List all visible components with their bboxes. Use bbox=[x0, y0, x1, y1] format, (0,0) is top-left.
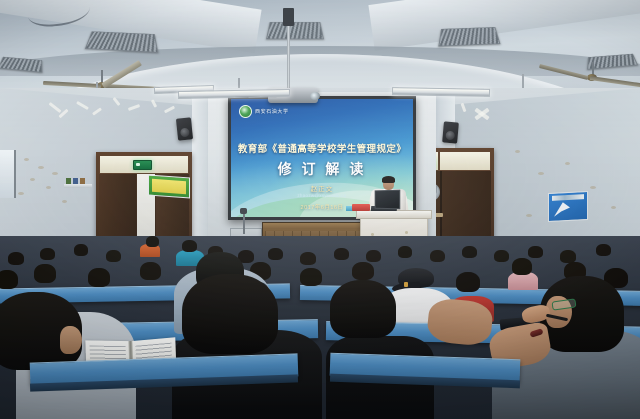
exit-sign-icon bbox=[133, 160, 152, 170]
poster-graphic bbox=[554, 202, 570, 217]
speaker-cone bbox=[445, 131, 455, 141]
wall-speaker-left bbox=[176, 117, 193, 140]
air-vent-icon bbox=[438, 27, 500, 47]
fluorescent-light bbox=[392, 87, 490, 97]
audience-head-foreground bbox=[182, 274, 278, 354]
slide-title-primary: 教育部《普通高等学校学生管理规定》 bbox=[231, 141, 413, 155]
shelf-item bbox=[66, 178, 71, 184]
microphone-icon bbox=[240, 208, 247, 214]
wall-scuff bbox=[611, 206, 616, 209]
microphone-stand bbox=[243, 212, 245, 234]
audience-head bbox=[34, 264, 56, 283]
podium-surface bbox=[356, 210, 432, 219]
lecture-hall-photo: 西安石油大学 教育部《普通高等学校学生管理规定》 修 订 解 读 赵正文 zha… bbox=[0, 0, 640, 419]
wall-scuff bbox=[538, 172, 544, 175]
university-seal-icon bbox=[239, 105, 252, 118]
wall-scuff bbox=[52, 172, 58, 175]
shelf-item bbox=[73, 178, 78, 184]
wall-shelf bbox=[64, 184, 92, 188]
audience-head bbox=[0, 270, 18, 289]
wall-scuff bbox=[565, 162, 570, 165]
presenter-hair bbox=[382, 176, 395, 183]
audience-head bbox=[352, 262, 374, 280]
poster-right bbox=[548, 191, 588, 222]
audience-head bbox=[88, 268, 110, 287]
wall-scuff bbox=[515, 150, 520, 153]
audience-head bbox=[106, 250, 121, 262]
slide-logo: 西安石油大学 bbox=[239, 105, 289, 118]
audience-head bbox=[596, 244, 611, 256]
door-handle-icon[interactable] bbox=[435, 213, 443, 217]
presenter-laptop[interactable] bbox=[375, 190, 401, 210]
shelf-item bbox=[80, 178, 85, 184]
audience-head bbox=[398, 246, 412, 258]
notice-board-content bbox=[152, 179, 186, 194]
audience-head bbox=[462, 246, 477, 258]
audience-head bbox=[300, 268, 322, 286]
audience-head bbox=[268, 248, 283, 260]
wall-scuff bbox=[62, 200, 67, 203]
wall-scuff bbox=[18, 192, 24, 195]
wall-scuff bbox=[38, 166, 44, 169]
cap-logo-icon bbox=[404, 282, 408, 287]
notice-board-left bbox=[148, 175, 190, 199]
audience-head bbox=[182, 240, 197, 252]
audience-head bbox=[74, 244, 88, 256]
audience-head bbox=[494, 250, 509, 262]
audience-head bbox=[140, 262, 161, 280]
audience-head bbox=[528, 246, 543, 258]
audience-head bbox=[8, 252, 24, 265]
projector-mount-bracket bbox=[283, 8, 294, 26]
wall-speaker-right bbox=[442, 121, 459, 143]
slide-logo-text: 西安石油大学 bbox=[255, 108, 289, 115]
projector-lens-icon bbox=[310, 92, 320, 100]
audience-head bbox=[430, 250, 445, 262]
audience-head bbox=[334, 248, 349, 260]
transom-mullion bbox=[438, 152, 440, 170]
audience-head bbox=[40, 248, 55, 260]
audience-head bbox=[300, 252, 316, 265]
speaker-cone bbox=[180, 128, 190, 138]
wall-scuff bbox=[590, 186, 596, 189]
audience-head-foreground bbox=[330, 280, 396, 338]
audience-head bbox=[366, 250, 381, 262]
audience-head bbox=[512, 258, 532, 275]
wall-scuff bbox=[46, 186, 51, 189]
window-left bbox=[0, 150, 16, 198]
poster-header-strip bbox=[552, 194, 584, 201]
wall-scuff bbox=[526, 214, 532, 217]
podium-detail bbox=[405, 231, 408, 234]
wall-scuff bbox=[30, 178, 35, 181]
audience-head bbox=[146, 236, 159, 247]
podium-item-red bbox=[352, 204, 370, 211]
air-vent-icon bbox=[266, 22, 324, 39]
audience-ear bbox=[60, 326, 82, 354]
audience-head bbox=[456, 272, 480, 292]
wall-scuff bbox=[24, 158, 29, 161]
